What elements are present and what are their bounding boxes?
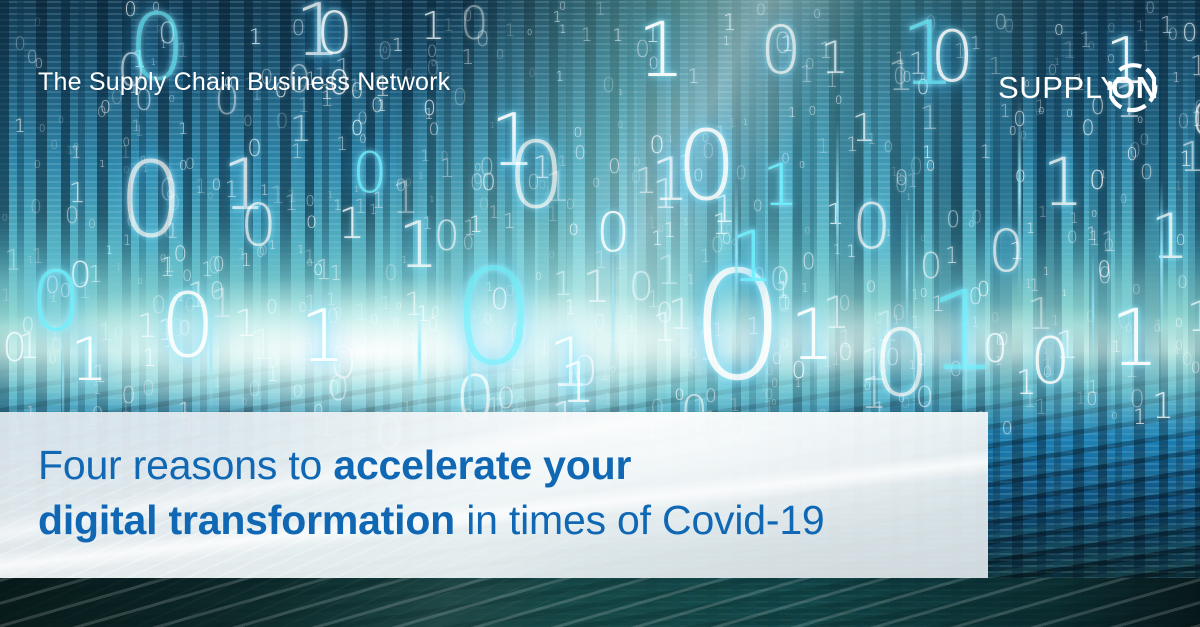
binary-digit: 0 (969, 221, 975, 230)
binary-digit: 0 (124, 0, 136, 20)
binary-digit: 1 (911, 394, 917, 403)
binary-digit: 0 (1098, 266, 1112, 288)
binary-digit: 1 (249, 324, 276, 366)
binary-digit: 1 (585, 369, 591, 378)
binary-digit: 0 (1129, 141, 1141, 160)
binary-digit-glow: 1 (790, 300, 835, 370)
binary-digit: 0 (167, 322, 173, 332)
binary-digit: 0 (427, 44, 438, 61)
binary-digit: 1 (645, 23, 660, 47)
binary-digit: 0 (894, 174, 908, 196)
binary-digit: 1 (668, 136, 674, 145)
binary-digit: 1 (613, 251, 627, 274)
binary-digit: 0 (51, 140, 59, 152)
binary-digit: 0 (902, 70, 911, 85)
binary-digit: 0 (1177, 275, 1188, 292)
binary-digit: 1 (851, 110, 876, 149)
binary-digit: 1 (170, 196, 179, 209)
binary-digit: 1 (910, 314, 921, 331)
binary-digit: 1 (422, 216, 433, 233)
binary-digit: 1 (1026, 222, 1035, 236)
binary-digit: 1 (266, 364, 279, 385)
binary-digit: 0 (1140, 162, 1153, 183)
binary-digit: 0 (920, 74, 925, 82)
binary-digit: 0 (1054, 23, 1064, 38)
binary-digit: 1 (867, 133, 876, 148)
binary-digit: 0 (65, 205, 79, 227)
binary-digit: 0 (1004, 19, 1015, 36)
binary-digit: 1 (157, 316, 176, 346)
binary-digit: 1 (177, 291, 185, 303)
binary-digit: 1 (696, 317, 703, 328)
binary-digit: 0 (996, 336, 1004, 349)
binary-digit: 0 (770, 264, 790, 296)
light-bar (418, 300, 421, 420)
binary-digit: 0 (48, 290, 56, 302)
binary-digit: 1 (392, 37, 403, 55)
binary-digit: 0 (59, 283, 71, 301)
binary-digit: 0 (243, 114, 253, 129)
binary-digit: 0 (1091, 210, 1097, 219)
binary-digit: 0 (292, 384, 303, 401)
binary-digit: 0 (977, 279, 990, 300)
binary-digit: 0 (917, 77, 930, 98)
binary-digit: 0 (1153, 323, 1160, 335)
binary-digit: 1 (469, 214, 483, 237)
binary-digit: 1 (69, 180, 87, 208)
binary-digit: 0 (1176, 233, 1186, 249)
binary-digit: 0 (753, 266, 765, 285)
binary-digit: 0 (163, 220, 176, 240)
headline-text-bold-2: digital transformation (38, 497, 455, 543)
headline-line-1: Four reasons to accelerate your (38, 438, 968, 493)
binary-digit: 1 (1070, 213, 1079, 227)
binary-digit: 1 (652, 174, 678, 215)
binary-digit: 0 (268, 353, 279, 371)
binary-digit: 0 (151, 294, 166, 318)
binary-digit: 1 (870, 337, 876, 347)
binary-digit: 1 (201, 260, 213, 279)
binary-digit: 1 (298, 96, 310, 115)
binary-digit: 0 (917, 352, 927, 368)
binary-digit: 0 (629, 268, 654, 307)
binary-digit: 0 (357, 111, 368, 128)
binary-digit: 0 (877, 360, 888, 377)
binary-digit: 0 (926, 160, 935, 175)
supplyon-logo[interactable]: SUPPLY ON (998, 58, 1174, 120)
binary-digit: 1 (421, 8, 445, 46)
binary-digit: 0 (892, 303, 906, 325)
binary-digit: 1 (907, 173, 919, 191)
binary-digit: 0 (1111, 412, 1117, 421)
binary-digit: 1 (895, 51, 905, 67)
binary-digit: 1 (909, 360, 916, 372)
binary-digit: 0 (1139, 132, 1149, 148)
binary-digit: 1 (545, 167, 571, 208)
binary-digit: 1 (410, 295, 419, 309)
binary-digit: 0 (648, 55, 659, 72)
binary-digit: 1 (510, 383, 516, 392)
binary-digit: 0 (777, 270, 789, 289)
binary-digit: 1 (1027, 293, 1055, 337)
binary-digit: 0 (1191, 97, 1200, 142)
binary-digit: 1 (1179, 137, 1200, 178)
binary-digit: 0 (592, 177, 600, 189)
binary-digit: 1 (4, 247, 22, 275)
binary-digit: 0 (167, 193, 181, 215)
binary-digit: 0 (877, 351, 883, 361)
binary-digit: 1 (679, 153, 693, 174)
binary-digit: 0 (756, 2, 766, 18)
page-title: Four reasons to accelerate your digital … (38, 438, 968, 547)
binary-digit: 1 (489, 205, 499, 221)
binary-digit: 1 (86, 348, 96, 364)
binary-digit: 0 (27, 50, 38, 68)
binary-digit: 0 (920, 287, 928, 299)
binary-digit: 1 (363, 361, 369, 370)
headline-panel: Four reasons to accelerate your digital … (0, 412, 988, 578)
binary-digit: 1 (609, 373, 616, 384)
binary-digit: 1 (1179, 149, 1193, 170)
binary-digit: 0 (866, 279, 876, 295)
binary-digit: 0 (1088, 41, 1096, 53)
binary-digit: 0 (864, 381, 871, 392)
binary-digit: 1 (467, 380, 475, 392)
binary-digit: 1 (31, 246, 44, 266)
binary-digit: 0 (427, 317, 439, 335)
binary-digit: 0 (2, 214, 8, 224)
binary-digit: 0 (142, 378, 155, 399)
binary-digit: 0 (475, 163, 482, 174)
binary-digit: 1 (377, 98, 387, 114)
binary-digit: 1 (1100, 229, 1117, 256)
binary-digit: 1 (635, 164, 658, 200)
binary-digit: 0 (566, 198, 575, 213)
binary-digit: 1 (1029, 278, 1040, 295)
binary-digit: 1 (824, 341, 830, 350)
binary-digit: 1 (553, 268, 574, 301)
binary-digit: 0 (208, 256, 222, 278)
binary-digit: 1 (1135, 20, 1144, 35)
binary-digit: 1 (1038, 205, 1048, 220)
binary-digit-glow: 0 (852, 196, 891, 258)
binary-digit-glow: 1 (295, 0, 341, 66)
binary-digit: 0 (805, 57, 815, 72)
binary-digit: 0 (1145, 1, 1155, 17)
binary-digit: 1 (269, 240, 276, 252)
binary-digit: 1 (1009, 240, 1024, 264)
binary-digit: 0 (791, 359, 806, 382)
binary-digit: 1 (1086, 226, 1098, 245)
binary-digit: 0 (479, 156, 494, 180)
binary-digit: 0 (137, 278, 142, 286)
binary-digit: 1 (505, 23, 515, 39)
binary-digit: 1 (369, 204, 377, 217)
binary-digit: 1 (249, 27, 263, 48)
binary-digit: 0 (179, 161, 187, 174)
binary-digit: 0 (211, 178, 221, 194)
binary-digit: 1 (1191, 109, 1200, 130)
binary-digit: 1 (48, 324, 60, 344)
binary-digit: 0 (1126, 146, 1137, 164)
binary-digit: 0 (883, 330, 890, 341)
binary-digit: 1 (213, 376, 222, 390)
binary-digit: 1 (859, 344, 887, 389)
binary-digit: 1 (823, 355, 833, 370)
binary-digit: 1 (846, 243, 857, 260)
binary-digit: 1 (123, 235, 132, 249)
binary-digit-glow: 0 (240, 196, 277, 254)
binary-digit: 0 (359, 134, 366, 145)
binary-digit: 1 (919, 101, 940, 134)
binary-digit: 1 (1088, 229, 1101, 249)
binary-digit: 0 (702, 141, 715, 161)
binary-digit: 0 (968, 287, 982, 309)
binary-digit: 0 (732, 238, 737, 246)
binary-digit: 0 (184, 297, 196, 316)
binary-digit: 0 (725, 223, 733, 235)
binary-digit: 1 (196, 186, 202, 196)
binary-digit-glow: 0 (118, 148, 184, 252)
binary-digit: 1 (970, 36, 981, 53)
binary-digit: 0 (434, 216, 460, 257)
binary-digit: 0 (1168, 27, 1179, 44)
binary-digit: 1 (931, 294, 944, 315)
binary-digit: 0 (89, 344, 96, 355)
binary-digit: 1 (838, 328, 853, 352)
headline-text-normal-1: Four reasons to (38, 442, 333, 488)
binary-digit: 1 (270, 184, 285, 208)
binary-digit: 1 (598, 363, 611, 383)
light-bar (735, 180, 738, 340)
binary-digit: 0 (182, 268, 192, 284)
binary-digit: 1 (609, 330, 617, 342)
binary-digit: 0 (213, 255, 225, 274)
binary-digit: 1 (1124, 358, 1139, 382)
binary-digit: 1 (794, 378, 802, 390)
binary-digit: 0 (608, 157, 621, 177)
binary-digit: 0 (898, 394, 905, 405)
binary-digit: 1 (714, 124, 727, 145)
binary-digit: 0 (305, 195, 314, 210)
binary-digit: 0 (735, 165, 747, 184)
binary-digit-glow: 0 (930, 22, 975, 92)
binary-digit: 1 (486, 281, 494, 293)
binary-digit: 1 (761, 385, 766, 394)
binary-digit: 1 (1174, 347, 1180, 357)
binary-digit: 1 (729, 117, 737, 129)
binary-digit: 1 (470, 311, 476, 321)
binary-digit: 0 (39, 124, 46, 134)
binary-digit: 1 (781, 34, 795, 55)
binary-digit-glow: 0 (316, 4, 353, 62)
binary-digit: 0 (481, 171, 496, 194)
binary-digit: 1 (779, 293, 791, 313)
binary-digit: 0 (177, 365, 184, 376)
binary-digit: 1 (980, 144, 992, 163)
binary-digit: 1 (799, 64, 814, 87)
binary-digit: 0 (159, 176, 178, 206)
binary-digit: 0 (1107, 22, 1115, 35)
binary-digit: 1 (159, 256, 175, 282)
binary-digit: 1 (908, 50, 927, 80)
binary-digit: 1 (467, 396, 474, 406)
logo-text-on: ON (1111, 70, 1159, 105)
binary-digit: 0 (100, 100, 111, 118)
binary-digit: 1 (508, 357, 519, 375)
binary-digit: 0 (441, 150, 449, 163)
binary-digit: 0 (453, 87, 468, 110)
binary-digit: 0 (476, 29, 490, 51)
binary-digit: 1 (315, 257, 332, 284)
binary-digit: 1 (1142, 40, 1151, 54)
binary-digit: 1 (612, 28, 623, 45)
binary-digit: 1 (712, 191, 736, 229)
binary-digit: 1 (819, 40, 833, 62)
binary-digit: 1 (558, 155, 567, 169)
binary-digit: 1 (28, 256, 34, 266)
binary-digit: 1 (700, 333, 711, 351)
binary-digit: 1 (945, 246, 959, 268)
binary-digit: 0 (702, 132, 710, 145)
binary-digit: 1 (1111, 339, 1121, 355)
binary-digit: 1 (697, 367, 704, 377)
binary-digit: 0 (753, 198, 763, 214)
binary-digit: 0 (909, 157, 923, 179)
binary-digit: 1 (559, 24, 566, 35)
binary-digit: 0 (529, 68, 536, 79)
binary-digit: 0 (722, 231, 732, 247)
binary-digit: 0 (73, 143, 79, 153)
binary-digit: 1 (581, 27, 593, 45)
binary-digit: 0 (1194, 99, 1200, 117)
binary-digit: 0 (126, 216, 135, 230)
binary-digit: 1 (418, 172, 424, 182)
binary-digit: 0 (593, 312, 606, 332)
binary-digit: 0 (327, 307, 340, 327)
headline-text-bold-1: accelerate your (333, 442, 631, 488)
binary-digit: 1 (260, 185, 269, 199)
binary-digit: 0 (559, 1, 566, 12)
binary-digit: 0 (874, 312, 883, 327)
binary-digit-glow: 0 (452, 252, 536, 384)
binary-digit: 1 (354, 185, 359, 193)
binary-digit: 0 (916, 384, 934, 412)
binary-digit: 1 (361, 336, 370, 351)
binary-digit: 0 (549, 251, 555, 261)
binary-digit: 1 (712, 322, 724, 340)
binary-digit: 1 (566, 306, 574, 319)
binary-digit: 1 (297, 245, 304, 256)
brand-tagline: The Supply Chain Business Network (38, 68, 450, 97)
binary-digit: 0 (693, 168, 704, 185)
binary-digit-glow: 0 (30, 262, 82, 344)
binary-digit-glow: 0 (760, 18, 802, 84)
binary-digit: 1 (1024, 278, 1032, 290)
binary-digit-glow: 1 (1110, 300, 1160, 378)
binary-digit: 0 (158, 19, 177, 48)
binary-digit: 1 (177, 41, 190, 61)
binary-digit: 1 (354, 301, 369, 324)
binary-digit: 1 (1079, 29, 1092, 50)
binary-digit: 0 (946, 210, 960, 232)
binary-digit: 0 (429, 121, 440, 138)
binary-digit: 0 (921, 235, 926, 243)
binary-digit-glow: 0 (1030, 330, 1071, 394)
binary-digit: 0 (1175, 340, 1184, 353)
binary-digit: 0 (396, 302, 402, 312)
binary-digit: 1 (88, 264, 103, 287)
light-bar (1160, 180, 1163, 350)
binary-digit: 0 (123, 137, 131, 149)
binary-digit: 0 (759, 302, 772, 323)
binary-digit: 1 (971, 317, 980, 331)
binary-digit: 1 (556, 71, 564, 84)
binary-digit: 1 (594, 249, 609, 273)
binary-digit: 0 (248, 379, 261, 399)
binary-digit: 1 (162, 255, 175, 276)
binary-digit-glow: 1 (548, 330, 591, 398)
binary-digit: 1 (1154, 318, 1164, 334)
binary-digit: 1 (723, 35, 731, 47)
binary-digit: 1 (490, 121, 495, 129)
binary-digit: 0 (431, 59, 436, 67)
binary-digit: 0 (572, 351, 598, 392)
binary-digit: 1 (142, 347, 157, 371)
binary-digit: 1 (424, 107, 434, 122)
binary-digit: 1 (681, 353, 695, 376)
binary-digit-glow: 0 (988, 222, 1025, 280)
binary-digit: 1 (354, 197, 367, 217)
binary-digit: 0 (802, 252, 816, 274)
binary-digit: 1 (131, 118, 141, 134)
binary-digit: 0 (14, 36, 26, 54)
binary-digit: 0 (674, 387, 684, 403)
binary-digit: 1 (648, 45, 654, 54)
binary-digit: 0 (307, 259, 313, 269)
binary-digit: 1 (429, 195, 434, 203)
binary-digit: 1 (874, 306, 900, 348)
binary-digit: 0 (1015, 169, 1026, 186)
binary-digit: 0 (983, 331, 1008, 370)
binary-digit: 0 (113, 326, 123, 342)
binary-digit: 0 (2, 330, 27, 369)
binary-digit: 1 (327, 191, 333, 201)
binary-digit: 0 (327, 371, 349, 406)
binary-digit: 1 (106, 245, 113, 256)
binary-digit: 1 (712, 210, 730, 239)
binary-digit: 0 (895, 168, 909, 190)
light-bar (836, 120, 839, 310)
binary-digit: 1 (92, 363, 107, 387)
binary-digit: 0 (1130, 387, 1145, 411)
binary-digit: 0 (835, 95, 842, 106)
binary-digit: 0 (431, 307, 440, 321)
binary-digit: 0 (69, 258, 92, 294)
binary-digit: 0 (920, 249, 942, 284)
binary-digit: 0 (1120, 194, 1128, 206)
binary-digit: 1 (439, 157, 455, 183)
binary-digit: 0 (596, 347, 602, 356)
binary-digit: 0 (208, 193, 214, 202)
binary-digit: 1 (890, 166, 898, 178)
binary-digit: 1 (166, 221, 179, 241)
binary-digit: 0 (689, 349, 698, 363)
binary-digit: 1 (922, 145, 932, 161)
binary-digit: 1 (120, 144, 132, 162)
binary-digit: 1 (195, 177, 207, 197)
binary-digit: 0 (573, 127, 582, 141)
